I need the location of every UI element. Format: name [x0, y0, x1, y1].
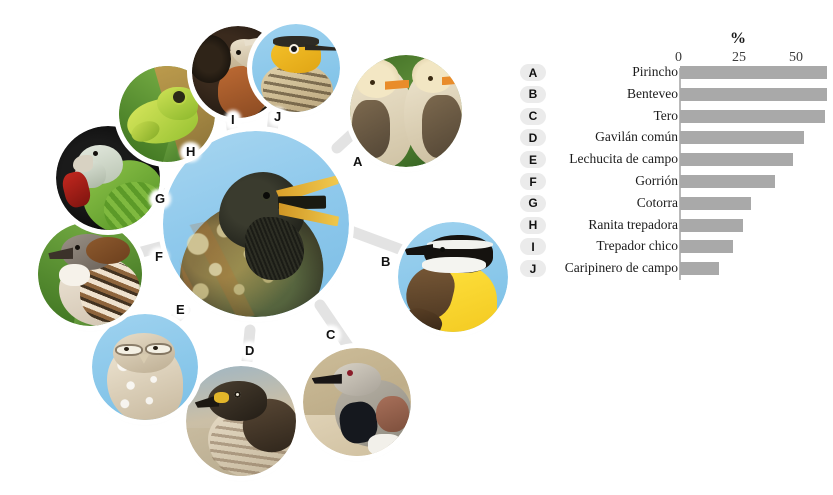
chart-category-label: Benteveo [627, 86, 678, 102]
field-flicker-photo [252, 24, 340, 112]
diagram-letter-i: I [228, 113, 238, 127]
chart-category-label: Lechucita de campo [569, 151, 678, 167]
radial-diagram: A B C D E F G H I J [0, 0, 510, 495]
southern-lapwing-photo [303, 348, 411, 456]
chart-bar-c [680, 110, 825, 123]
guira-cuckoo-pair-photo [350, 55, 462, 167]
chart-category-label: Cotorra [637, 195, 678, 211]
chart-bar-a [680, 66, 827, 79]
node-d-gavilan-comun[interactable] [186, 366, 296, 476]
chart-bar-j [680, 262, 719, 275]
chart-bar-d [680, 131, 804, 144]
bar-chart: % 0 25 50 APirinchoBBenteveoCTeroDGavilá… [512, 0, 833, 495]
node-a-pirincho[interactable] [350, 55, 462, 167]
node-f-gorrion[interactable] [38, 222, 142, 326]
diagram-letter-j: J [271, 110, 284, 124]
node-e-lechucita-de-campo[interactable] [92, 314, 198, 420]
chart-category-label: Gavilán común [595, 129, 678, 145]
diagram-letter-f: F [152, 250, 166, 264]
chart-bar-b [680, 88, 827, 101]
chart-category-label: Ranita trepadora [588, 217, 678, 233]
x-tick-50: 50 [789, 50, 803, 66]
chart-bar-e [680, 153, 793, 166]
chart-key-badge-j: J [520, 260, 546, 277]
chart-key-badge-d: D [520, 129, 546, 146]
x-tick-25: 25 [732, 50, 746, 66]
diagram-letter-g: G [152, 192, 168, 206]
great-kiskadee-photo [398, 222, 508, 332]
chart-key-badge-g: G [520, 195, 546, 212]
chart-key-badge-h: H [520, 217, 546, 234]
chart-bar-g [680, 197, 751, 210]
chart-category-label: Trepador chico [596, 238, 678, 254]
burrowing-owl-photo [92, 314, 198, 420]
chart-key-badge-a: A [520, 64, 546, 81]
chart-category-label: Gorrión [635, 173, 678, 189]
chart-bar-f [680, 175, 775, 188]
chart-bar-h [680, 219, 743, 232]
chart-category-label: Caripinero de campo [565, 260, 678, 276]
chart-category-label: Pirincho [632, 64, 678, 80]
chart-key-badge-b: B [520, 86, 546, 103]
node-b-benteveo[interactable] [398, 222, 508, 332]
chart-category-label: Tero [653, 108, 678, 124]
node-c-tero[interactable] [303, 348, 411, 456]
diagram-letter-e: E [173, 303, 188, 317]
chart-key-badge-c: C [520, 108, 546, 125]
chart-axis-title: % [730, 30, 746, 48]
chart-key-badge-i: I [520, 238, 546, 255]
roadside-hawk-photo [186, 366, 296, 476]
chart-key-badge-e: E [520, 151, 546, 168]
house-sparrow-photo [38, 222, 142, 326]
node-j-caripinero-de-campo[interactable] [252, 24, 340, 112]
chart-key-badge-f: F [520, 173, 546, 190]
chart-bar-i [680, 240, 733, 253]
